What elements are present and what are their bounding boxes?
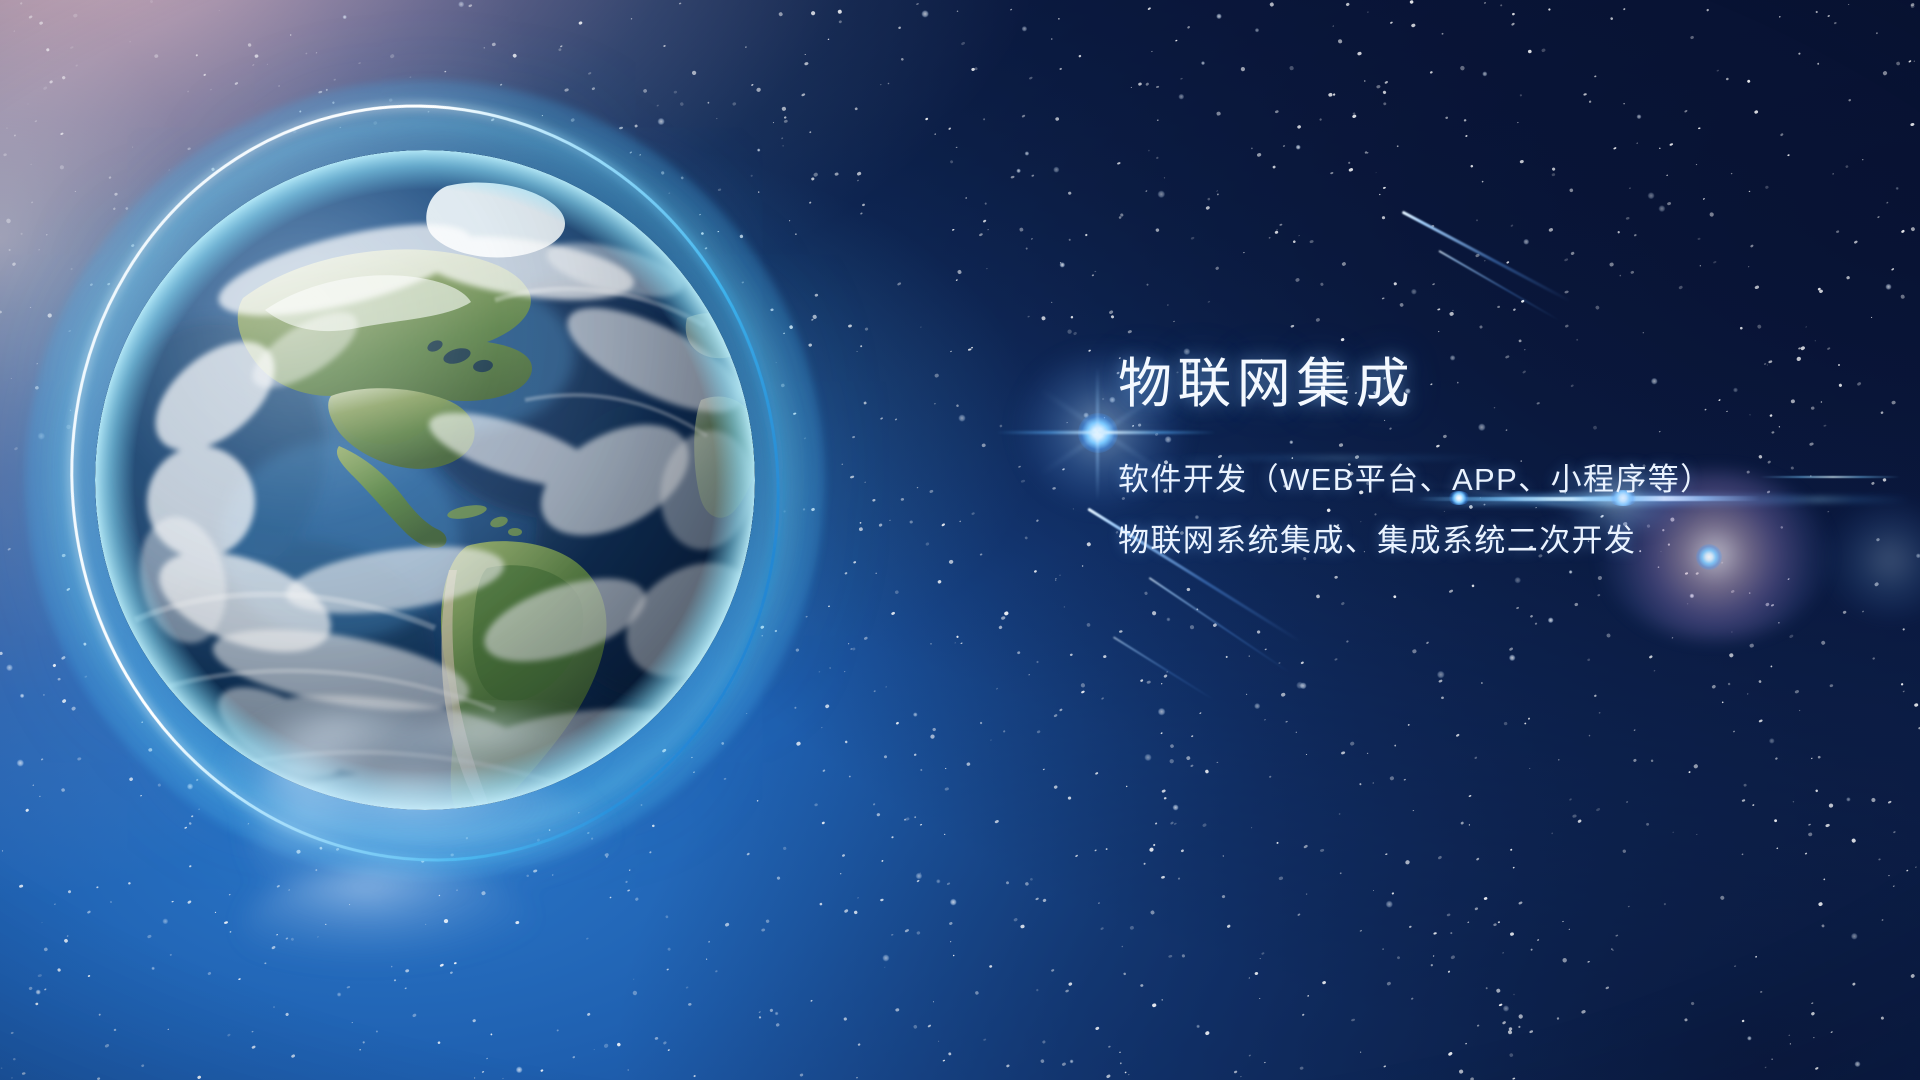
earth-globe [95, 150, 755, 810]
banner-subtitle-2: 物联网系统集成、集成系统二次开发 [1118, 516, 1878, 566]
hero-banner: 物联网集成 软件开发（WEB平台、APP、小程序等） 物联网系统集成、集成系统二… [0, 0, 1920, 1080]
banner-headline: 物联网集成 [1118, 355, 1878, 413]
earth-sphere [95, 150, 755, 810]
banner-subtitles: 软件开发（WEB平台、APP、小程序等） 物联网系统集成、集成系统二次开发 [1118, 455, 1878, 565]
banner-subtitle-1: 软件开发（WEB平台、APP、小程序等） [1118, 455, 1878, 505]
comet-streak-1 [1402, 211, 1571, 302]
comet-streak-5 [1113, 637, 1216, 702]
banner-copy: 物联网集成 软件开发（WEB平台、APP、小程序等） 物联网系统集成、集成系统二… [1118, 355, 1878, 566]
